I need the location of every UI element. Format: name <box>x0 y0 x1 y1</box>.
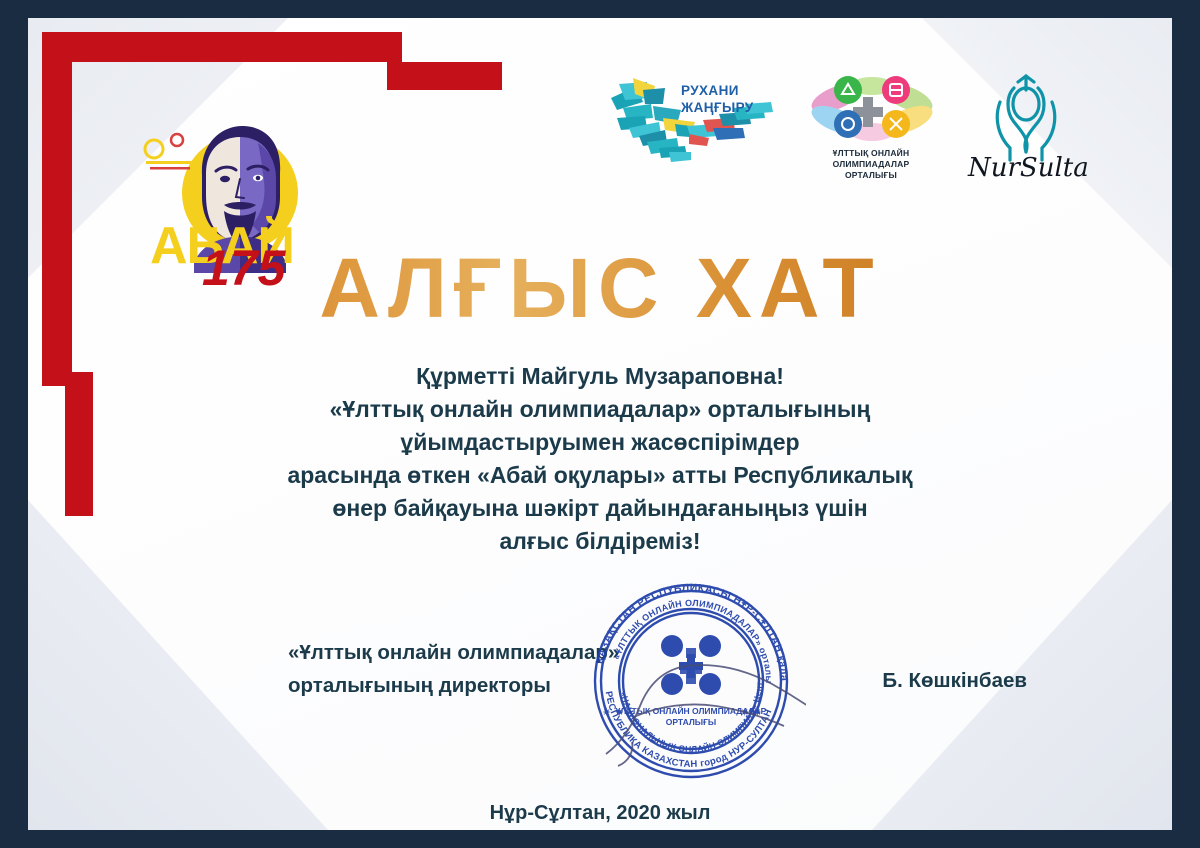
ruhani-zhangyru-logo: РУХАНИ ЖАҢҒЫРУ <box>603 68 778 173</box>
certificate-page: АБАЙ 175 <box>28 18 1172 830</box>
olympiad-center-label: ҰЛТТЫҚ ОНЛАЙН ОЛИМПИАДАЛАР ОРТАЛЫҒЫ <box>796 148 946 181</box>
ruhani-line-2: ЖАҢҒЫРУ <box>681 99 754 116</box>
olympiad-emblem-icon <box>796 68 946 148</box>
certificate-body: Құрметті Майгуль Музараповна! «Ұлттық он… <box>168 360 1032 558</box>
body-line-1: Құрметті Майгуль Музараповна! <box>168 360 1032 393</box>
nur-sultan-wordmark: NurSultan <box>967 153 1089 183</box>
nur-sultan-logo: NurSultan <box>964 68 1089 183</box>
certificate: АБАЙ 175 <box>0 0 1200 848</box>
page-title: АЛҒЫС ХАТ <box>28 240 1172 337</box>
olympiad-center-line-2: ОРТАЛЫҒЫ <box>796 170 946 181</box>
stamp-inner-line-2: ОРТАЛЫҒЫ <box>666 717 717 727</box>
body-line-2: «Ұлттық онлайн олимпиадалар» орталығының <box>168 393 1032 426</box>
ruhani-zhangyru-label: РУХАНИ ЖАҢҒЫРУ <box>681 82 754 116</box>
official-stamp: ҚАЗАҚСТАН РЕСПУБЛИКАСЫ НҰР-СҰЛТАН қаласы… <box>576 566 806 796</box>
nur-sultan-emblem-icon: NurSultan <box>964 68 1089 183</box>
body-line-6: алғыс білдіреміз! <box>168 525 1032 558</box>
body-line-4: арасында өткен «Абай оқулары» атты Респу… <box>168 459 1032 492</box>
body-line-5: өнер байқауына шәкірт дайындағаныңыз үші… <box>168 492 1032 525</box>
body-line-3: ұйымдастыруымен жасөспірімдер <box>168 426 1032 459</box>
signatory-name: Б. Көшкінбаев <box>882 669 1027 693</box>
olympiad-center-line-1: ҰЛТТЫҚ ОНЛАЙН ОЛИМПИАДАЛАР <box>796 148 946 170</box>
partner-logos: РУХАНИ ЖАҢҒЫРУ <box>603 68 1133 193</box>
place-and-date: Нұр-Сұлтан, 2020 жыл <box>28 802 1172 825</box>
olympiad-center-logo: ҰЛТТЫҚ ОНЛАЙН ОЛИМПИАДАЛАР ОРТАЛЫҒЫ <box>796 68 946 186</box>
ruhani-line-1: РУХАНИ <box>681 82 754 99</box>
